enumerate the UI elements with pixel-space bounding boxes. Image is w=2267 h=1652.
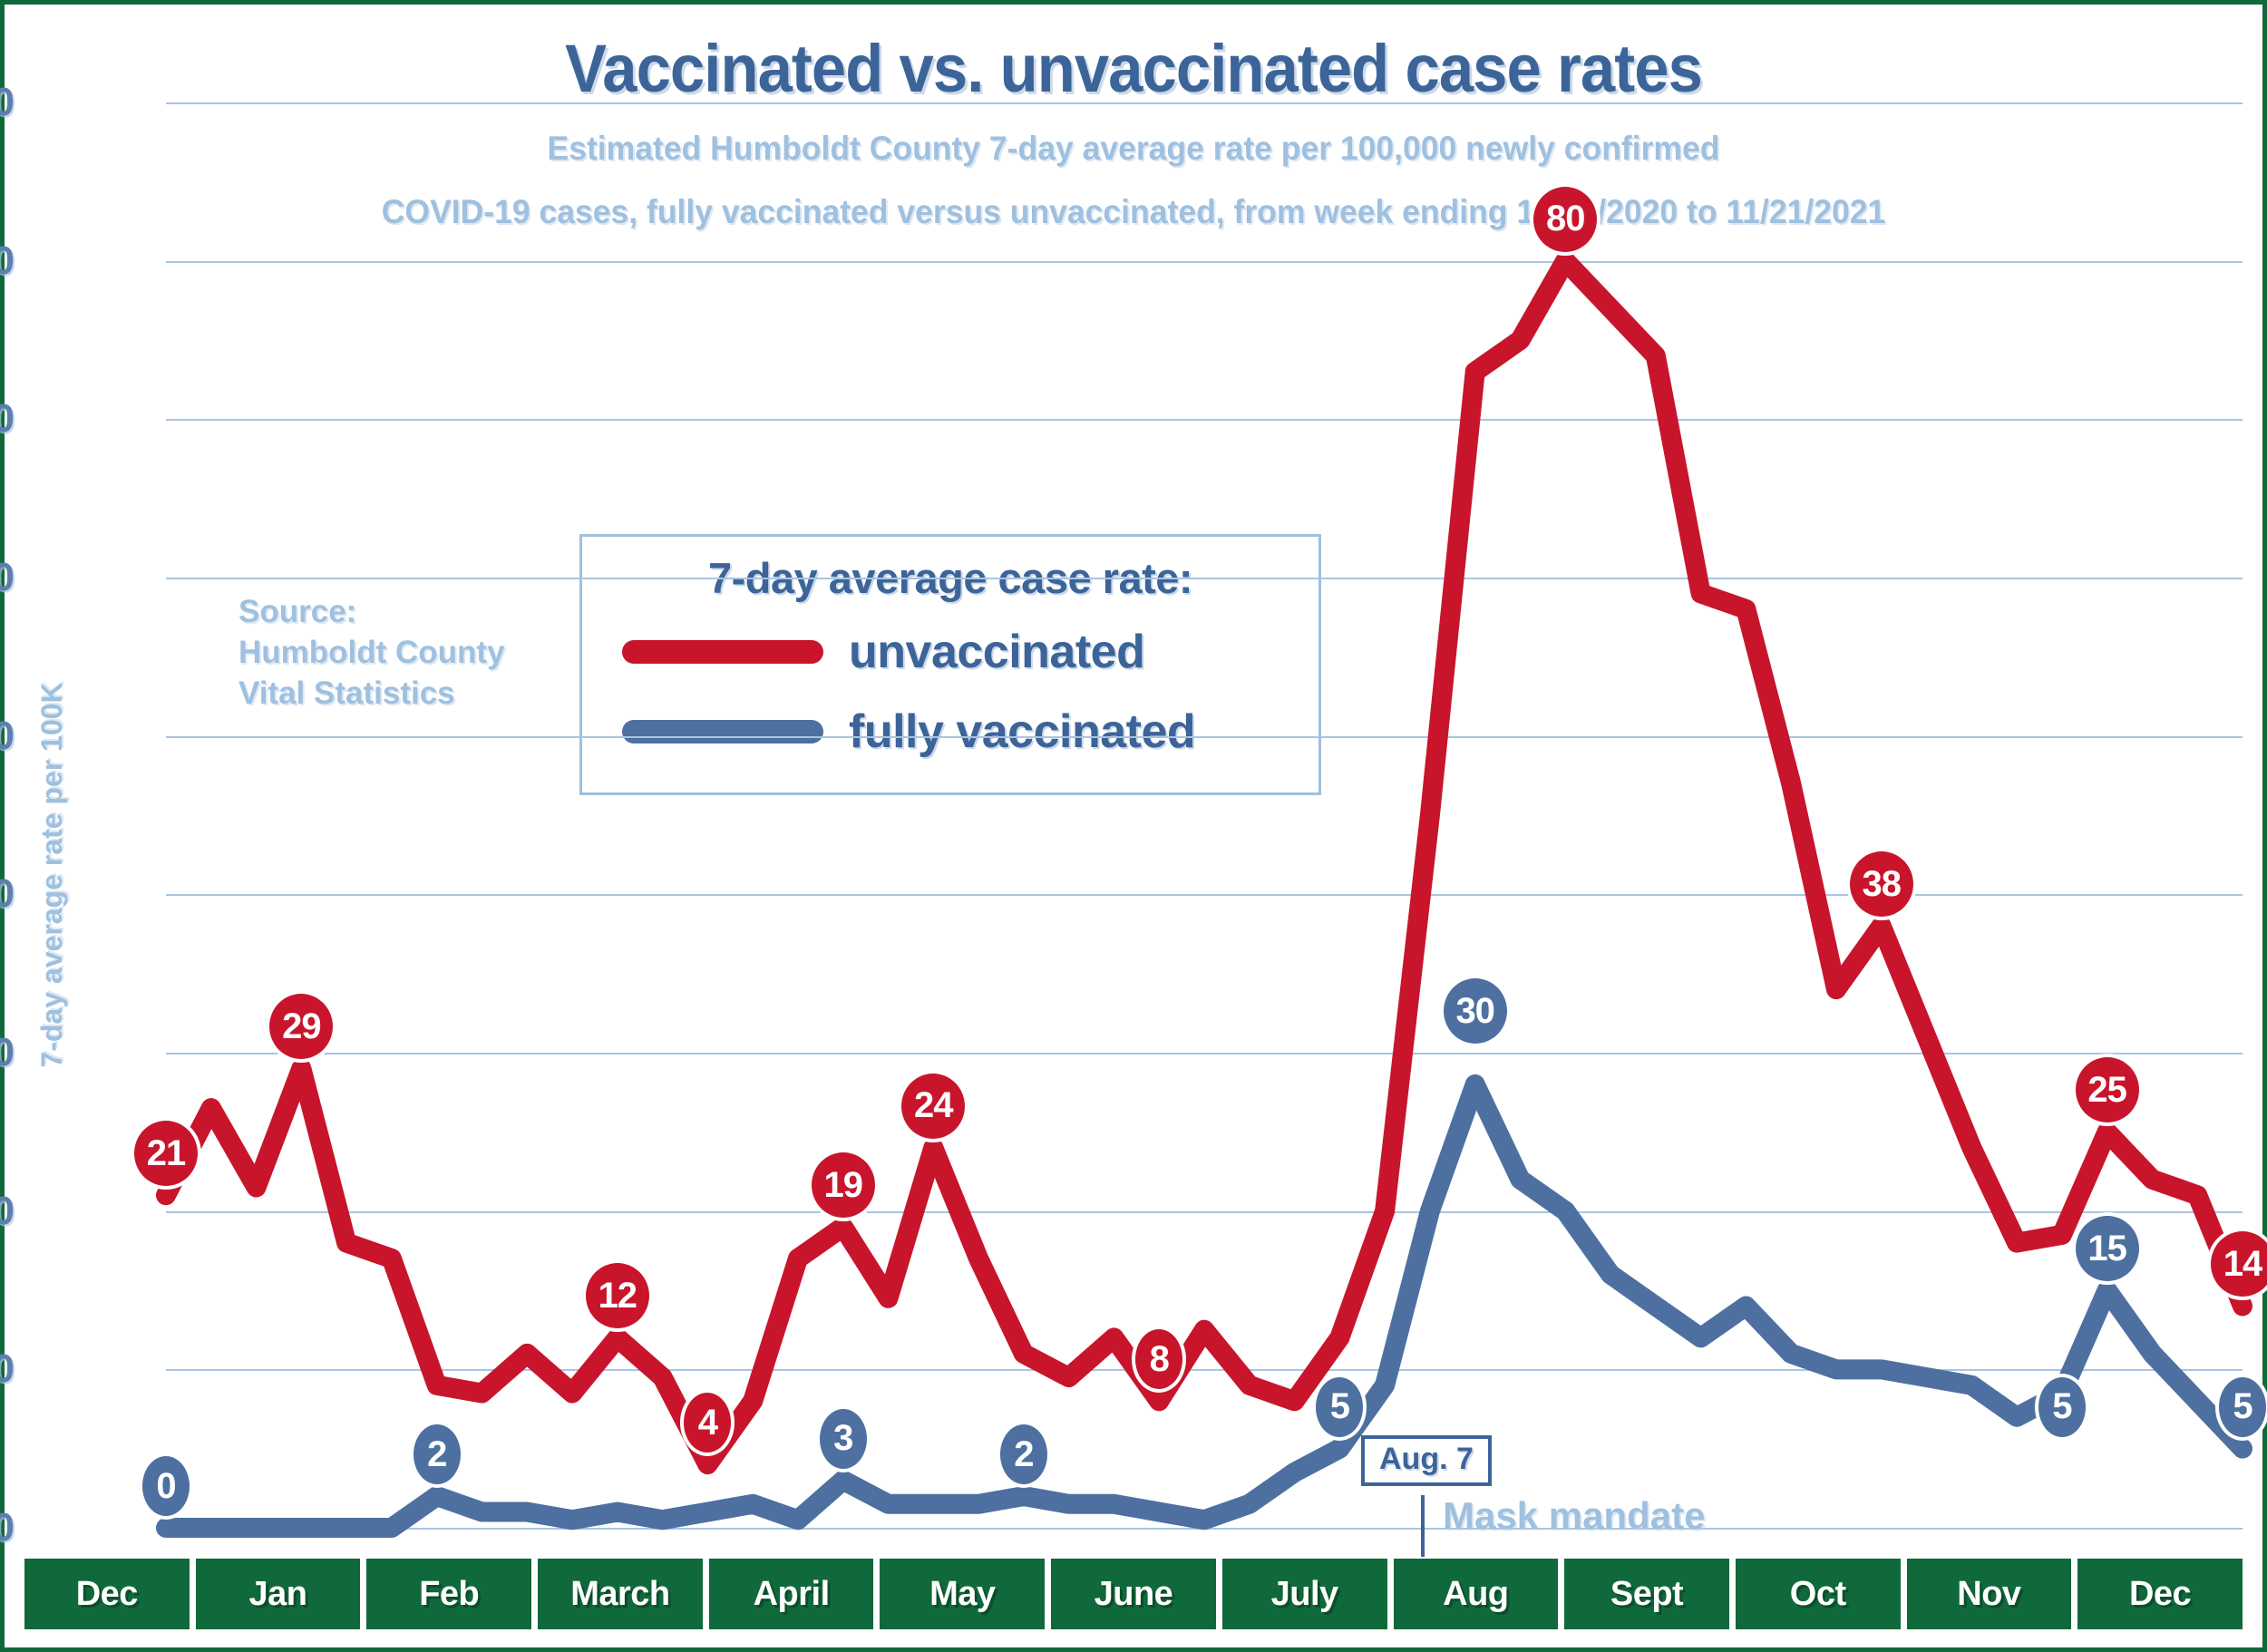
line-fully-vaccinated (166, 1084, 2243, 1528)
data-label-fully-vaccinated-19[interactable]: 2 (997, 1421, 1051, 1488)
month-label-sept: Sept (1564, 1559, 1729, 1629)
mask-mandate-date-box: Aug. 7 (1361, 1435, 1492, 1486)
month-label-may: May (880, 1559, 1045, 1629)
data-label-fully-vaccinated-6[interactable]: 2 (410, 1421, 464, 1488)
y-tick-80: 80 (0, 238, 15, 284)
month-label-dec: Dec (24, 1559, 190, 1629)
month-label-june: June (1051, 1559, 1216, 1629)
data-label-unvaccinated-10[interactable]: 12 (582, 1259, 653, 1332)
data-label-fully-vaccinated-29[interactable]: 30 (1440, 975, 1511, 1047)
data-label-unvaccinated-3[interactable]: 29 (266, 990, 336, 1063)
month-label-march: March (538, 1559, 703, 1629)
data-label-unvaccinated-15[interactable]: 19 (808, 1149, 879, 1221)
data-label-fully-vaccinated-0[interactable]: 0 (139, 1453, 193, 1520)
chart-frame: Vaccinated vs. unvaccinated case rates E… (0, 0, 2267, 1652)
y-tick-40: 40 (0, 871, 15, 917)
mask-mandate-label: Mask mandate (1443, 1494, 1705, 1538)
y-tick-90: 90 (0, 80, 15, 125)
month-label-july: July (1222, 1559, 1387, 1629)
chart-title: Vaccinated vs. unvaccinated case rates (83, 30, 2184, 107)
y-tick-70: 70 (0, 396, 15, 442)
month-label-jan: Jan (196, 1559, 361, 1629)
data-label-fully-vaccinated-15[interactable]: 3 (816, 1405, 871, 1472)
data-label-fully-vaccinated-46[interactable]: 5 (2215, 1374, 2267, 1441)
data-label-unvaccinated-12[interactable]: 4 (680, 1389, 735, 1456)
line-unvaccinated (166, 261, 2243, 1464)
month-label-dec: Dec (2077, 1559, 2243, 1629)
month-label-feb: Feb (366, 1559, 531, 1629)
month-label-nov: Nov (1907, 1559, 2072, 1629)
mask-mandate-stem (1421, 1495, 1425, 1557)
y-tick-60: 60 (0, 555, 15, 600)
y-tick-0: 0 (0, 1505, 15, 1550)
y-tick-10: 10 (0, 1346, 15, 1392)
data-label-unvaccinated-17[interactable]: 24 (898, 1070, 968, 1142)
series-lines (166, 102, 2243, 1528)
y-axis-title: 7-day average rate per 100K (35, 585, 69, 1165)
month-label-april: April (709, 1559, 874, 1629)
month-axis: DecJanFebMarchAprilMayJuneJulyAugSeptOct… (24, 1559, 2243, 1629)
month-label-oct: Oct (1736, 1559, 1901, 1629)
data-label-fully-vaccinated-43[interactable]: 15 (2072, 1212, 2143, 1285)
data-label-fully-vaccinated-42[interactable]: 5 (2035, 1374, 2089, 1441)
data-label-unvaccinated-22[interactable]: 8 (1132, 1326, 1186, 1393)
data-label-unvaccinated-0[interactable]: 21 (131, 1117, 201, 1190)
data-label-fully-vaccinated-26[interactable]: 5 (1312, 1374, 1367, 1441)
y-tick-50: 50 (0, 714, 15, 759)
data-label-unvaccinated-38[interactable]: 38 (1846, 848, 1917, 920)
y-tick-30: 30 (0, 1030, 15, 1075)
y-tick-20: 20 (0, 1189, 15, 1234)
month-label-aug: Aug (1394, 1559, 1559, 1629)
data-label-unvaccinated-43[interactable]: 25 (2072, 1054, 2143, 1126)
data-label-unvaccinated-31[interactable]: 80 (1530, 183, 1601, 256)
plot-area: 2129124192488038251402325305155 (166, 102, 2243, 1528)
